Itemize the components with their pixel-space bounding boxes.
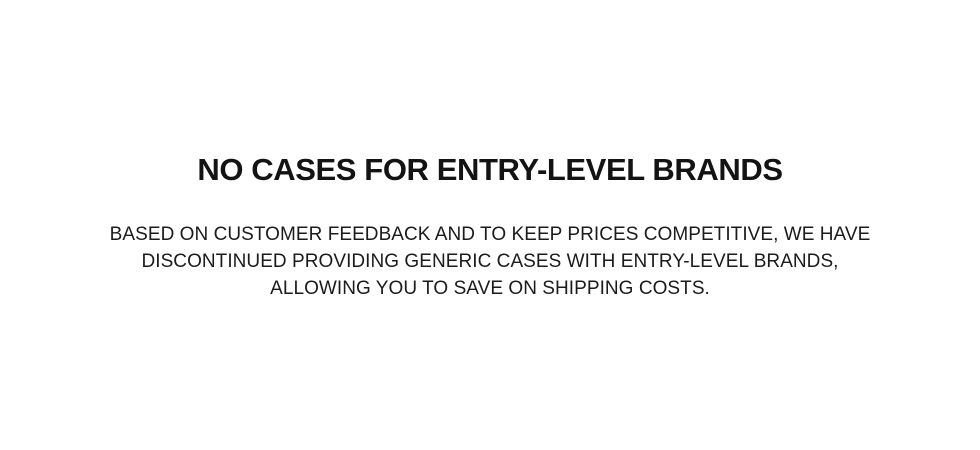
promo-notice-section: NO CASES FOR ENTRY-LEVEL BRANDS BASED ON… <box>0 0 980 450</box>
promo-heading: NO CASES FOR ENTRY-LEVEL BRANDS <box>197 152 782 188</box>
promo-body-text: BASED ON CUSTOMER FEEDBACK AND TO KEEP P… <box>90 222 890 303</box>
